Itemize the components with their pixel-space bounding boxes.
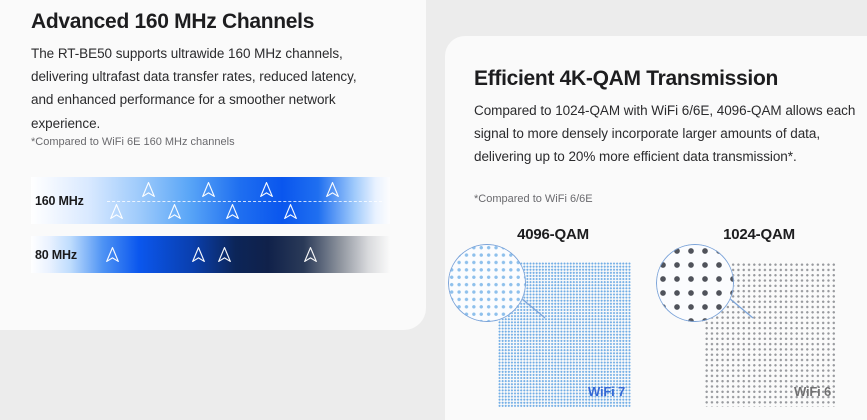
qam-4096-lens-ring-wrap [448, 244, 526, 322]
right-card-body: Compared to 1024-QAM with WiFi 6/6E, 409… [474, 99, 867, 169]
advanced-channels-card: Advanced 160 MHz Channels The RT-BE50 su… [0, 0, 426, 330]
wifi6-label: WiFi 6 [794, 384, 831, 399]
left-card-footnote: *Compared to WiFi 6E 160 MHz channels [31, 136, 391, 148]
qam-1024-lens-ring-wrap [656, 244, 734, 322]
qam-panel-4096: 4096-QAM WiFi 7 [445, 226, 668, 420]
signal-arrow-icon-160-bottom-1 [167, 203, 182, 220]
signal-arrow-icon-160-top-3 [325, 181, 340, 198]
bar-160mhz: 160 MHz [31, 177, 390, 224]
right-card-footnote: *Compared to WiFi 6/6E [474, 193, 854, 205]
qam-1024-lens-ring [656, 244, 734, 322]
qam-transmission-card: Efficient 4K-QAM Transmission Compared t… [445, 36, 867, 420]
signal-arrow-icon-160-top-2 [259, 181, 274, 198]
signal-arrow-icon-160-bottom-0 [109, 203, 124, 220]
signal-arrow-icon-80-1 [191, 246, 206, 263]
bar-80mhz: 80 MHz [31, 236, 390, 273]
bar-80mhz-gradient [31, 236, 390, 273]
signal-arrow-icon-160-top-1 [201, 181, 216, 198]
channel-bars-graphic: 160 MHz 80 MHz [31, 177, 390, 273]
qam-panel-1024: 1024-QAM WiFi 6 [657, 226, 867, 420]
qam-comparison-row: 4096-QAM WiFi 7 1024-QAM [445, 226, 867, 420]
signal-arrow-icon-80-3 [303, 246, 318, 263]
bar-80mhz-label: 80 MHz [35, 248, 77, 262]
right-card-headline: Efficient 4K-QAM Transmission [474, 66, 867, 91]
signal-arrow-icon-80-2 [217, 246, 232, 263]
qam-1024-title: 1024-QAM [659, 226, 859, 243]
left-card-headline: Advanced 160 MHz Channels [31, 9, 391, 34]
bar-160mhz-label: 160 MHz [35, 194, 84, 208]
signal-arrow-icon-160-bottom-3 [283, 203, 298, 220]
qam-4096-title: 4096-QAM [453, 226, 653, 243]
bar-160mhz-center-dashed-line [107, 201, 382, 202]
signal-arrow-icon-160-bottom-2 [225, 203, 240, 220]
qam-4096-lens-ring [448, 244, 526, 322]
signal-arrow-icon-80-0 [105, 246, 120, 263]
signal-arrow-icon-160-top-0 [141, 181, 156, 198]
wifi7-label: WiFi 7 [588, 384, 625, 399]
left-card-body: The RT-BE50 supports ultrawide 160 MHz c… [31, 42, 379, 135]
